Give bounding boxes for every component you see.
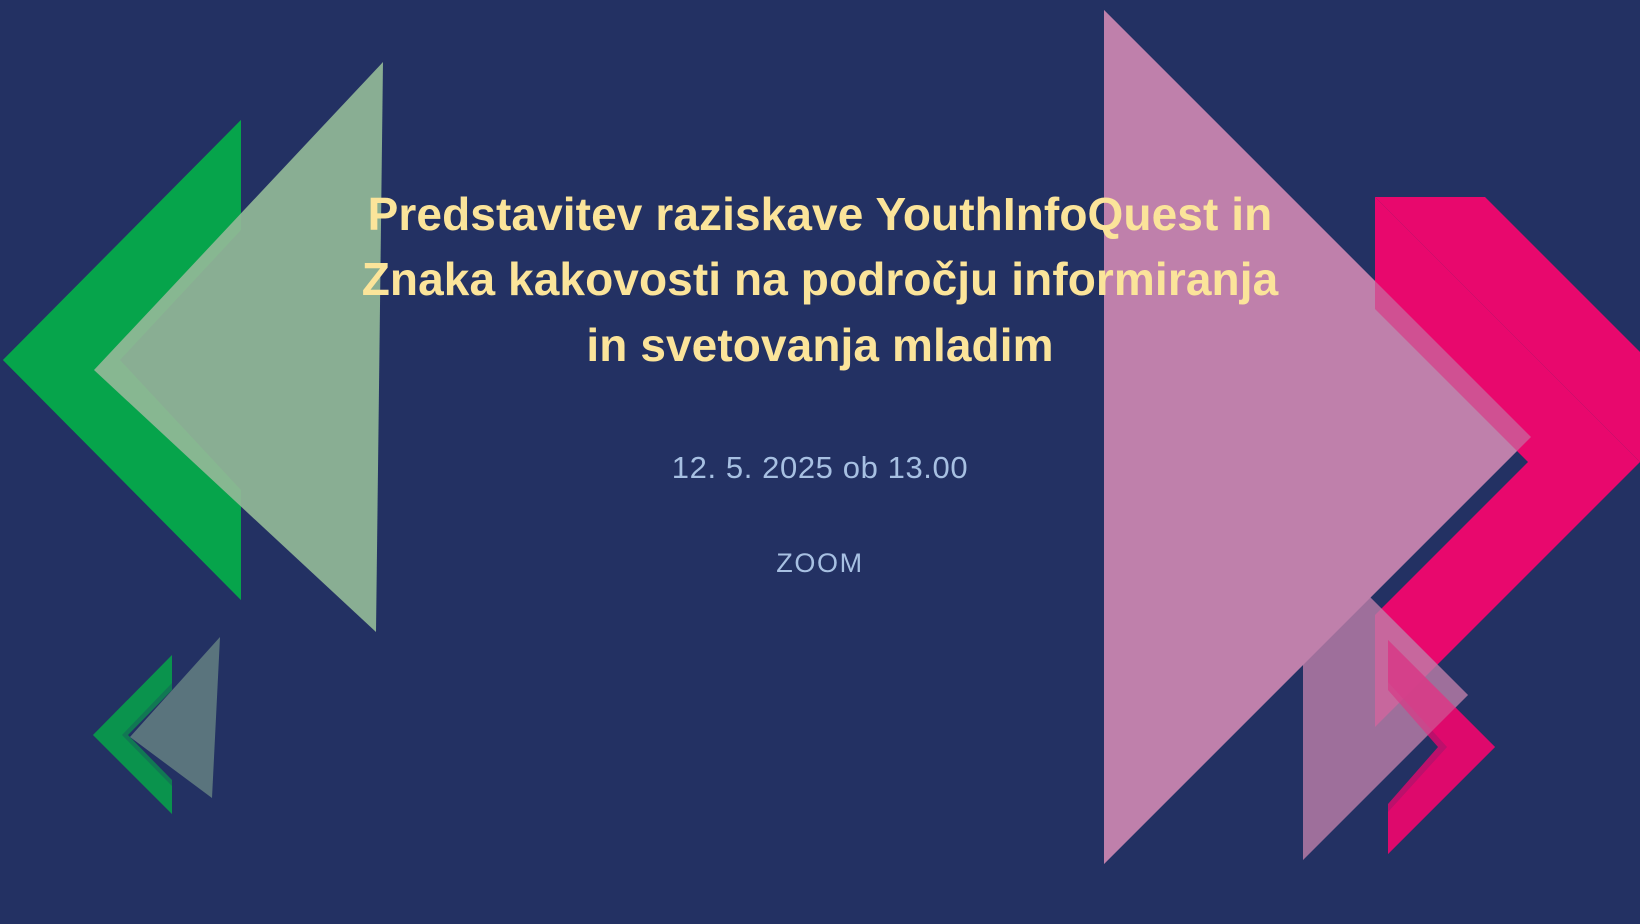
presentation-slide: Predstavitev raziskave YouthInfoQuest in… — [0, 0, 1640, 924]
decorative-background — [0, 0, 1640, 924]
